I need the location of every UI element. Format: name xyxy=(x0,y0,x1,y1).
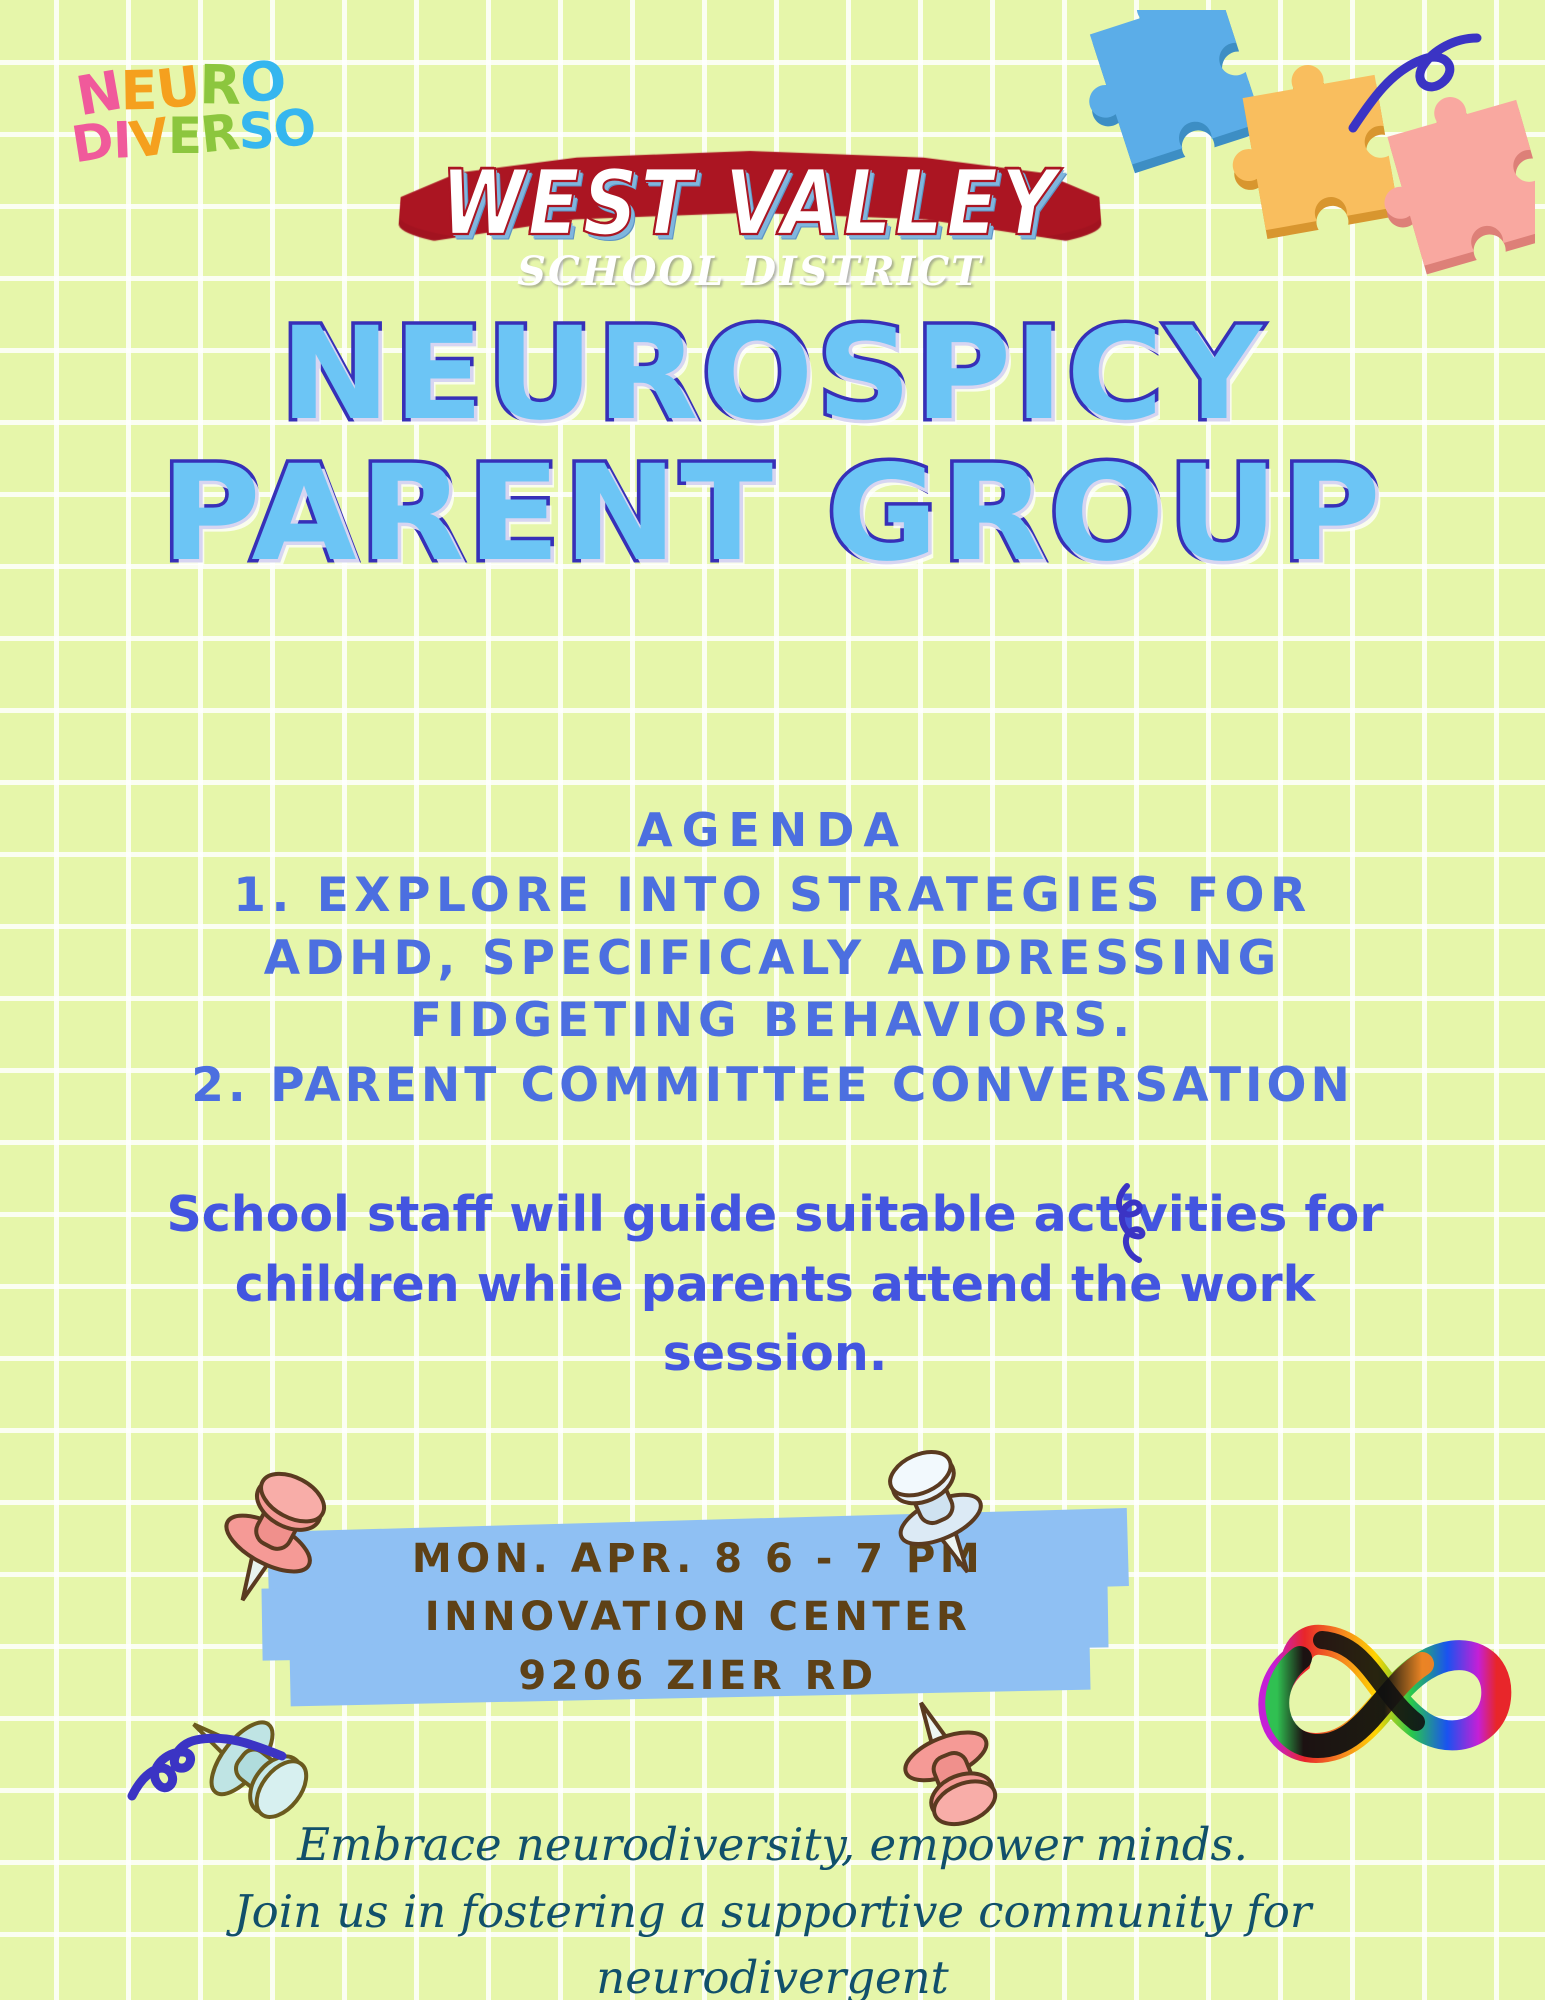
district-name: WEST VALLEY xyxy=(400,150,1100,255)
agenda-heading: AGENDA xyxy=(50,800,1495,861)
footer-line-2: Join us in fostering a supportive commun… xyxy=(60,1879,1485,2000)
logo-letter: S xyxy=(238,107,274,154)
district-subtitle: SCHOOL DISTRICT xyxy=(400,248,1100,295)
squiggle-icon xyxy=(1105,1178,1175,1273)
page-title: NEUROSPICY PARENT GROUP xyxy=(0,310,1545,581)
logo-letter: V xyxy=(127,113,171,164)
squiggle-icon xyxy=(122,1700,302,1815)
neurodiverso-logo: NEURO DIVERSO xyxy=(75,50,381,166)
pushpin-pink-icon xyxy=(878,1694,1028,1859)
logo-letter: E xyxy=(168,113,201,159)
pushpin-white-icon xyxy=(858,1422,1008,1587)
logo-letter: R xyxy=(198,108,240,158)
puzzle-pieces-decoration xyxy=(1035,10,1535,330)
logo-letter: O xyxy=(270,103,317,154)
west-valley-district-logo: WEST VALLEY SCHOOL DISTRICT xyxy=(400,132,1140,322)
agenda-item-2: 2. PARENT COMMITTEE CONVERSATION xyxy=(50,1055,1495,1118)
agenda-item-1c: FIDGETING BEHAVIORS. xyxy=(50,990,1495,1053)
supporting-paragraph: School staff will guide suitable activit… xyxy=(120,1180,1430,1389)
flyer-page: NEURO DIVERSO WEST VALLEY SCHOOL DISTRIC… xyxy=(0,0,1545,2000)
title-line-1: NEUROSPICY xyxy=(0,310,1545,441)
neurodiversity-infinity-icon xyxy=(1248,1598,1518,1793)
event-venue: INNOVATION CENTER xyxy=(268,1588,1128,1646)
pushpin-pink-icon xyxy=(198,1440,358,1615)
title-line-2: PARENT GROUP xyxy=(0,447,1545,582)
agenda-item-1b: ADHD, SPECIFICALY ADDRESSING xyxy=(50,928,1495,991)
puzzle-piece-blue xyxy=(1062,10,1265,180)
agenda-block: AGENDA 1. EXPLORE INTO STRATEGIES FOR AD… xyxy=(50,800,1495,1117)
logo-letter: D xyxy=(69,116,116,168)
agenda-item-1a: 1. EXPLORE INTO STRATEGIES FOR xyxy=(50,865,1495,928)
